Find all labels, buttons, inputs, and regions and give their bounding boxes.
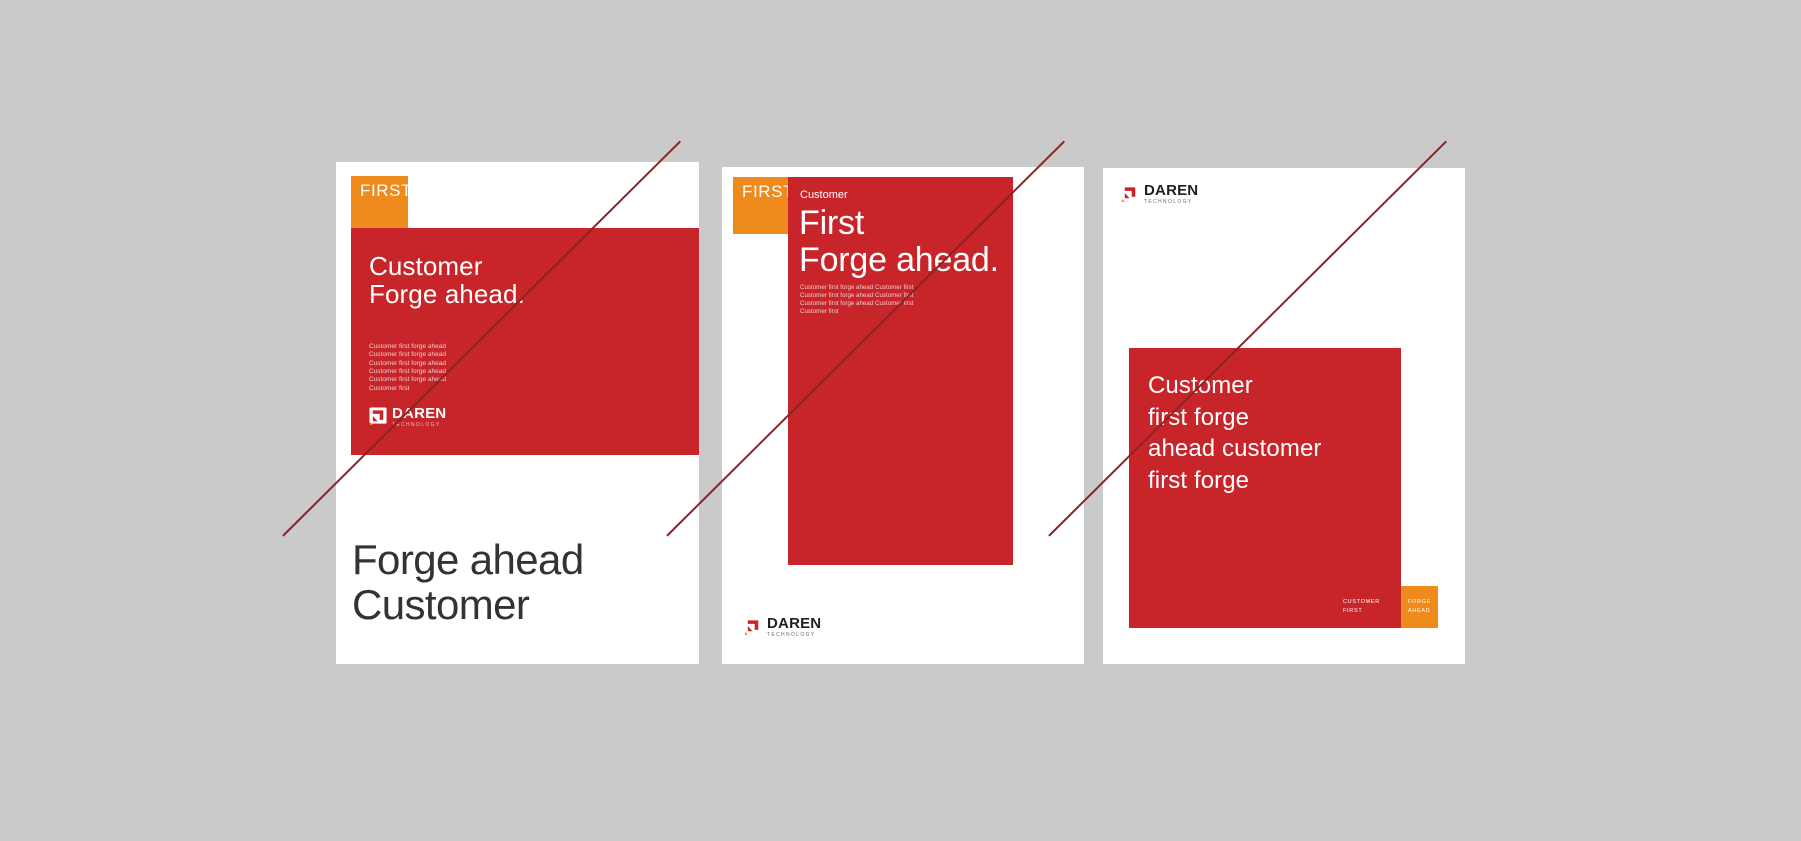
poster-one-body-line: Customer first forge ahead <box>369 343 446 351</box>
badge-line-2: FIRST <box>1343 607 1401 616</box>
poster-three-badge-customer-first[interactable]: CUSTOMER FIRST <box>1336 586 1401 628</box>
daren-logo-icon <box>1121 184 1140 203</box>
poster-three-badge-forge-ahead[interactable]: FORGE AHEAD <box>1401 586 1438 628</box>
poster-one-headline: Customer Forge ahead. <box>369 252 525 308</box>
poster-two-first-tab: FIRST <box>733 177 788 234</box>
poster-three[interactable]: DAREN TECHNOLOGY Customer first forge ah… <box>1103 168 1465 664</box>
poster-two-body-line: Customer first <box>800 308 913 316</box>
poster-two-body-line: Customer first forge ahead Customer firs… <box>800 284 913 292</box>
daren-logo-tagline: TECHNOLOGY <box>767 633 821 638</box>
poster-two-body-copy: Customer first forge ahead Customer firs… <box>800 284 913 316</box>
poster-three-title-line: first forge <box>1148 465 1322 497</box>
daren-logo-name: DAREN <box>767 616 821 631</box>
daren-logo-icon <box>744 617 763 636</box>
daren-logo-name: DAREN <box>1144 183 1198 198</box>
daren-logo-wordmark: DAREN TECHNOLOGY <box>1144 183 1198 205</box>
daren-logo-wordmark: DAREN TECHNOLOGY <box>392 406 446 428</box>
poster-two-hero-headline: First Forge ahead. <box>799 205 999 280</box>
badge-line-1: FORGE <box>1408 598 1438 607</box>
poster-two-first-tab-label: FIRST <box>742 183 794 200</box>
daren-logo-tagline: TECHNOLOGY <box>392 423 446 428</box>
poster-one-body-line: Customer first forge ahead <box>369 368 446 376</box>
daren-logo-icon <box>369 407 388 426</box>
poster-two-logo[interactable]: DAREN TECHNOLOGY <box>744 616 821 638</box>
poster-one-body-line: Customer first <box>369 385 446 393</box>
poster-one-body-line: Customer first forge ahead <box>369 376 446 384</box>
poster-one-body-line: Customer first forge ahead <box>369 351 446 359</box>
poster-one-footer-headline: Forge ahead Customer <box>352 537 584 628</box>
poster-one-logo[interactable]: DAREN TECHNOLOGY <box>369 406 446 428</box>
poster-two-body-line: Customer first forge ahead Customer firs… <box>800 300 913 308</box>
poster-two-red-panel: Customer First Forge ahead. Customer fir… <box>788 177 1013 565</box>
daren-logo-wordmark: DAREN TECHNOLOGY <box>767 616 821 638</box>
badge-line-2: AHEAD <box>1408 607 1438 616</box>
poster-one-headline-line-2: Forge ahead. <box>369 280 525 308</box>
poster-one-first-tab-label: FIRST <box>360 182 412 199</box>
artboard-background: FIRST Customer Forge ahead. Customer fir… <box>0 0 1801 841</box>
poster-one-body-copy: Customer first forge ahead Customer firs… <box>369 343 446 393</box>
poster-one-footer-line-1: Forge ahead <box>352 537 584 582</box>
poster-two-hero-line-2: Forge ahead. <box>799 242 999 279</box>
poster-two-hero-line-1: First <box>799 205 999 242</box>
poster-three-logo[interactable]: DAREN TECHNOLOGY <box>1121 183 1198 205</box>
poster-three-title-line: Customer <box>1148 370 1322 402</box>
poster-two-eyebrow: Customer <box>800 189 848 202</box>
poster-one-red-panel: Customer Forge ahead. Customer first for… <box>351 228 699 455</box>
poster-three-title-line: first forge <box>1148 402 1322 434</box>
poster-one[interactable]: FIRST Customer Forge ahead. Customer fir… <box>336 162 699 664</box>
poster-one-first-tab: FIRST <box>351 176 408 229</box>
poster-two[interactable]: FIRST Customer First Forge ahead. Custom… <box>722 167 1084 664</box>
daren-logo-name: DAREN <box>392 406 446 421</box>
daren-logo-tagline: TECHNOLOGY <box>1144 200 1198 205</box>
poster-one-footer-line-2: Customer <box>352 582 584 627</box>
poster-one-body-line: Customer first forge ahead <box>369 360 446 368</box>
poster-two-body-line: Customer first forge ahead Customer firs… <box>800 292 913 300</box>
poster-one-headline-line-1: Customer <box>369 252 525 280</box>
poster-three-title: Customer first forge ahead customer firs… <box>1148 370 1322 497</box>
poster-three-title-line: ahead customer <box>1148 433 1322 465</box>
badge-line-1: CUSTOMER <box>1343 598 1401 607</box>
